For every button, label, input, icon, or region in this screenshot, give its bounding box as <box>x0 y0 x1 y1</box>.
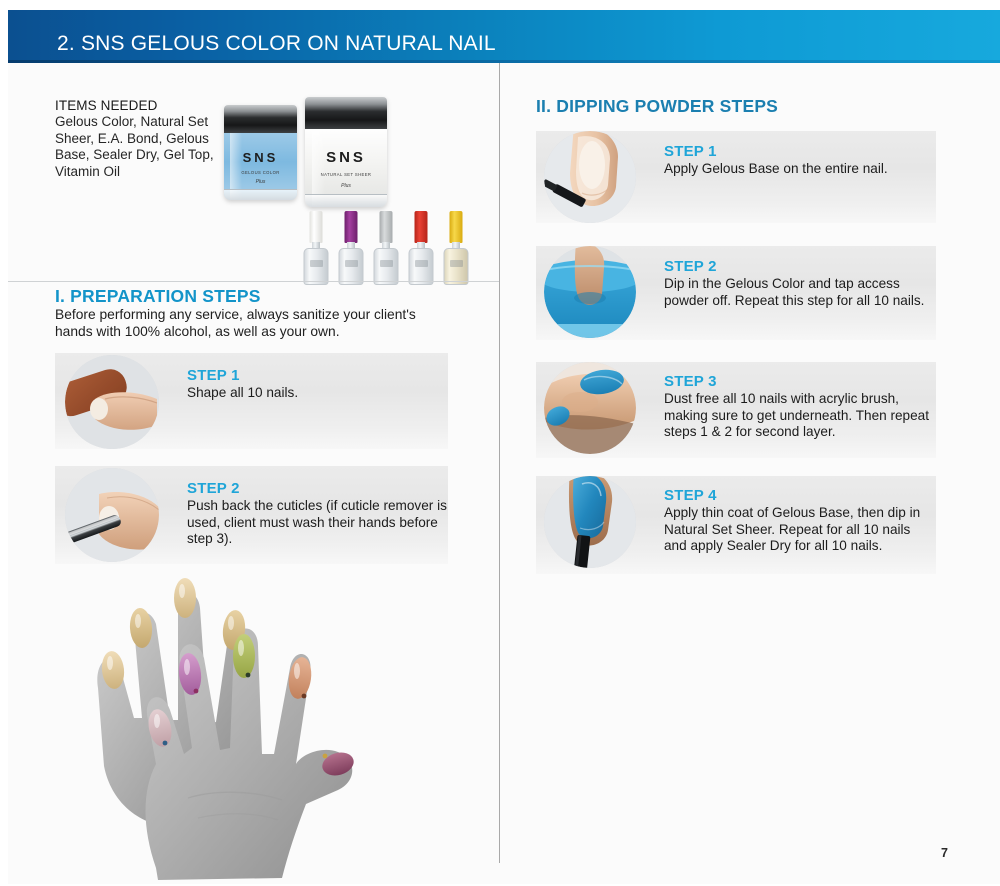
dipping-powder-steps-heading: II. DIPPING POWDER STEPS <box>536 96 778 117</box>
dip-step-2-text: STEP 2 Dip in the Gelous Color and tap a… <box>664 258 930 309</box>
jar-lid <box>305 97 387 129</box>
step-body: Dip in the Gelous Color and tap access p… <box>664 276 930 309</box>
document-page: 2. SNS GELOUS COLOR ON NATURAL NAIL ITEM… <box>0 0 1000 884</box>
jar-body: SNS NATURAL SET SHEER Plus <box>305 127 387 207</box>
jar-line-label: NATURAL SET SHEER <box>305 172 387 177</box>
page-top-margin <box>0 0 1000 10</box>
natural-set-sheer-jar: SNS NATURAL SET SHEER Plus <box>305 97 387 207</box>
jar-plus-label: Plus <box>305 183 387 189</box>
bottle-cap <box>310 211 323 243</box>
polish-bottle-5 <box>441 211 471 286</box>
cuticle-pusher-photo <box>65 468 159 562</box>
bottle-cap <box>380 211 393 243</box>
dip-step-1-text: STEP 1 Apply Gelous Base on the entire n… <box>664 143 922 178</box>
gelous-color-jar: SNS GELOUS COLOR Plus <box>224 105 297 200</box>
preparation-intro-text: Before performing any service, always sa… <box>55 306 455 340</box>
items-needed-title: ITEMS NEEDED <box>55 97 225 114</box>
nail-gem-5 <box>323 754 328 759</box>
nail-gem-1 <box>163 741 168 746</box>
dip-step-4-thumbnail <box>544 476 636 568</box>
step-label: STEP 2 <box>664 258 930 275</box>
blue-nails-brush-photo <box>544 362 636 454</box>
step-label: STEP 3 <box>664 373 930 390</box>
page-number-right: 7 <box>941 846 948 860</box>
polish-bottle-3 <box>371 211 401 286</box>
jar-base <box>224 189 297 200</box>
jar-plus-label: Plus <box>224 179 297 185</box>
polish-bottle-2 <box>336 211 366 286</box>
dip-step-2-thumbnail <box>544 246 636 338</box>
nail-gem-4 <box>302 694 307 699</box>
step-body: Apply thin coat of Gelous Base, then dip… <box>664 505 930 555</box>
bottle-body <box>339 248 364 285</box>
preparation-steps-heading: I. PREPARATION STEPS <box>55 286 261 307</box>
jar-body: SNS GELOUS COLOR Plus <box>224 131 297 200</box>
jar-line-label: GELOUS COLOR <box>224 170 297 175</box>
dip-step-3-text: STEP 3 Dust free all 10 nails with acryl… <box>664 373 930 441</box>
sealer-dry-brush-photo <box>544 476 636 568</box>
prep-step-1-thumbnail <box>65 355 159 449</box>
prep-step-card-2: STEP 2 Push back the cuticles (if cuticl… <box>55 466 448 564</box>
step-label: STEP 2 <box>187 480 452 497</box>
dip-step-card-2: STEP 2 Dip in the Gelous Color and tap a… <box>536 246 936 340</box>
bottle-body <box>304 248 329 285</box>
two-hands-with-colored-nails-photo <box>38 568 478 884</box>
dip-step-card-4: STEP 4 Apply thin coat of Gelous Base, t… <box>536 476 936 574</box>
gelous-base-brush-photo <box>544 131 636 223</box>
dipping-powder-jar-photo <box>544 246 636 338</box>
bottle-body <box>444 248 469 285</box>
dip-step-1-thumbnail <box>544 131 636 223</box>
dip-step-4-text: STEP 4 Apply thin coat of Gelous Base, t… <box>664 487 930 555</box>
prep-step-2-text: STEP 2 Push back the cuticles (if cuticl… <box>187 480 452 548</box>
jar-lid <box>224 105 297 133</box>
bottle-cap <box>415 211 428 243</box>
step-body: Push back the cuticles (if cuticle remov… <box>187 498 452 548</box>
page-title: 2. SNS GELOUS COLOR ON NATURAL NAIL <box>57 32 496 56</box>
prep-step-2-thumbnail <box>65 468 159 562</box>
section-divider-rule <box>8 281 499 282</box>
hands-showcase-photo <box>38 568 478 884</box>
prep-step-1-text: STEP 1 Shape all 10 nails. <box>187 367 437 402</box>
items-needed-block: ITEMS NEEDED Gelous Color, Natural Set S… <box>55 97 225 180</box>
bottle-body <box>409 248 434 285</box>
product-lineup-photo: SNS GELOUS COLOR Plus SNS NATURAL SET SH… <box>220 91 460 286</box>
step-body: Dust free all 10 nails with acrylic brus… <box>664 391 930 441</box>
nail-gem-3 <box>246 673 251 678</box>
page-left-margin <box>0 0 8 884</box>
nail-back-3 <box>174 578 196 618</box>
prep-step-card-1: STEP 1 Shape all 10 nails. <box>55 353 448 449</box>
dip-step-card-3: STEP 3 Dust free all 10 nails with acryl… <box>536 362 936 458</box>
bottle-cap <box>345 211 358 243</box>
bottle-cap <box>450 211 463 243</box>
dip-step-3-thumbnail <box>544 362 636 454</box>
page-header-banner: 2. SNS GELOUS COLOR ON NATURAL NAIL <box>0 10 1000 60</box>
polish-bottle-1 <box>301 211 331 286</box>
step-label: STEP 4 <box>664 487 930 504</box>
step-body: Shape all 10 nails. <box>187 385 437 402</box>
step-label: STEP 1 <box>187 367 437 384</box>
items-needed-list: Gelous Color, Natural Set Sheer, E.A. Bo… <box>55 114 225 180</box>
page-spread: ITEMS NEEDED Gelous Color, Natural Set S… <box>8 63 1000 884</box>
bottle-body <box>374 248 399 285</box>
polish-bottle-4 <box>406 211 436 286</box>
jar-brand-label: SNS <box>224 150 297 165</box>
dip-step-card-1: STEP 1 Apply Gelous Base on the entire n… <box>536 131 936 223</box>
nail-file-shaping-photo <box>65 355 159 449</box>
jar-brand-label: SNS <box>305 149 387 166</box>
nail-front-middle <box>233 634 255 678</box>
jar-base <box>305 194 387 207</box>
step-label: STEP 1 <box>664 143 922 160</box>
step-body: Apply Gelous Base on the entire nail. <box>664 161 922 178</box>
nail-gem-2 <box>194 689 199 694</box>
